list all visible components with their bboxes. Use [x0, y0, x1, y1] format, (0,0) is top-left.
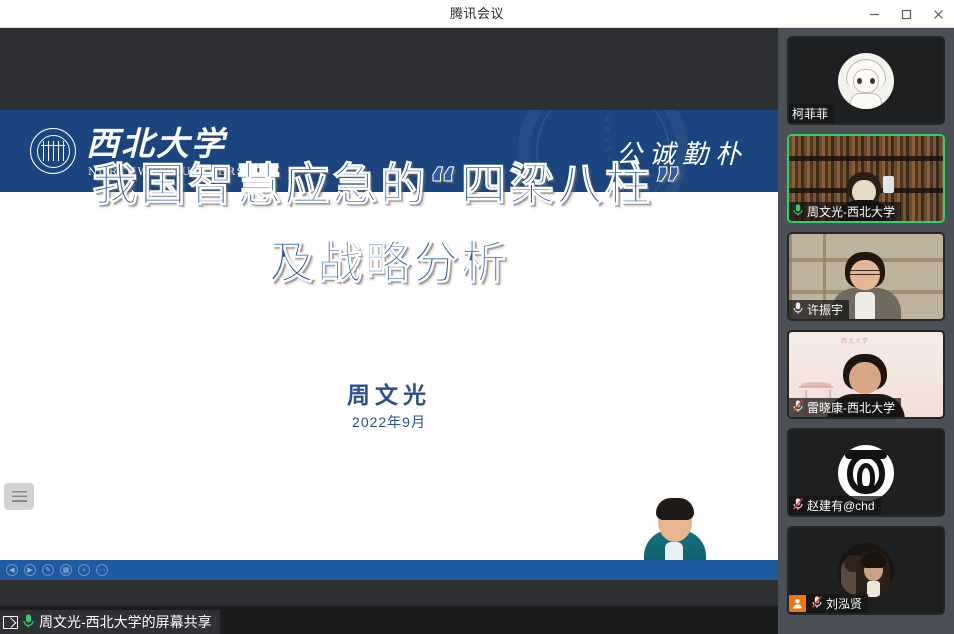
participant-nameplate: 刘泓贤 [789, 594, 868, 613]
participant-name: 周文光-西北大学 [807, 203, 895, 220]
participant-name: 许振宇 [807, 301, 843, 318]
microphone-on-icon [792, 301, 804, 318]
participant-name: 赵建有@chd [807, 497, 875, 514]
meeting-stage: NORTHWEST 西北大学 NORTHWEST UNIVERSITY 公诚勤朴… [0, 28, 954, 634]
participant-tile[interactable]: 西北大学 雷晓康-西北大学 [787, 330, 945, 419]
microphone-muted-icon [792, 399, 804, 416]
participant-name: 刘泓贤 [826, 595, 862, 612]
host-badge-icon [789, 595, 806, 612]
slides-grid-icon[interactable]: ▦ [60, 564, 72, 576]
participant-nameplate: 柯菲菲 [789, 104, 834, 123]
participant-nameplate: 许振宇 [789, 300, 849, 319]
avatar [838, 53, 894, 109]
participant-name: 雷晓康-西北大学 [807, 399, 895, 416]
menu-button[interactable] [4, 483, 34, 510]
participant-tile[interactable]: 柯菲菲 [787, 36, 945, 125]
slide-author: 周文光 [0, 376, 778, 410]
maximize-button[interactable] [890, 0, 922, 28]
slide-date: 2022年9月 [0, 412, 778, 432]
participant-nameplate: 周文光-西北大学 [789, 202, 901, 221]
microphone-on-icon [792, 203, 804, 220]
minimize-button[interactable] [858, 0, 890, 28]
screen-share-icon [3, 616, 18, 629]
share-status-bar: 周文光-西北大学的屏幕共享 [0, 606, 778, 634]
presentation-slide[interactable]: NORTHWEST 西北大学 NORTHWEST UNIVERSITY 公诚勤朴… [0, 110, 778, 580]
share-status-label: 周文光-西北大学的屏幕共享 [0, 610, 220, 634]
more-options-icon[interactable]: ⋯ [96, 564, 108, 576]
microphone-muted-icon [792, 497, 804, 514]
participant-tile[interactable]: 刘泓贤 [787, 526, 945, 615]
shared-screen-region[interactable]: NORTHWEST 西北大学 NORTHWEST UNIVERSITY 公诚勤朴… [0, 28, 778, 606]
slide-title-line2: 及战略分析 [0, 224, 778, 302]
share-label-text: 周文光-西北大学的屏幕共享 [39, 612, 212, 632]
presenter-video-overlay [632, 490, 718, 568]
participant-panel[interactable]: 柯菲菲 周文光-西北大学 [778, 28, 954, 634]
pen-icon[interactable]: ✎ [42, 564, 54, 576]
close-button[interactable] [922, 0, 954, 28]
participant-nameplate: 赵建有@chd [789, 496, 881, 515]
zoom-icon[interactable]: ⌕ [78, 564, 90, 576]
prev-arrow-icon[interactable]: ◀ [6, 564, 18, 576]
avatar [838, 445, 894, 501]
participant-name: 柯菲菲 [792, 105, 828, 122]
microphone-muted-icon [811, 595, 823, 612]
window-title: 腾讯会议 [0, 0, 954, 28]
participant-nameplate: 雷晓康-西北大学 [789, 398, 901, 417]
slide-title: 我国智慧应急的“四梁八柱” 及战略分析 [0, 146, 778, 302]
window-titlebar: 腾讯会议 [0, 0, 954, 28]
avatar [838, 543, 894, 599]
list-icon [12, 491, 27, 502]
slide-title-line1: 我国智慧应急的“四梁八柱” [92, 158, 685, 211]
participant-tile[interactable]: 许振宇 [787, 232, 945, 321]
next-arrow-icon[interactable]: ▶ [24, 564, 36, 576]
slideshow-toolbar[interactable]: ◀ ▶ ✎ ▦ ⌕ ⋯ [0, 560, 778, 580]
participant-tile[interactable]: 周文光-西北大学 [787, 134, 945, 223]
participant-tile[interactable]: 赵建有@chd [787, 428, 945, 517]
microphone-on-icon [22, 613, 35, 632]
